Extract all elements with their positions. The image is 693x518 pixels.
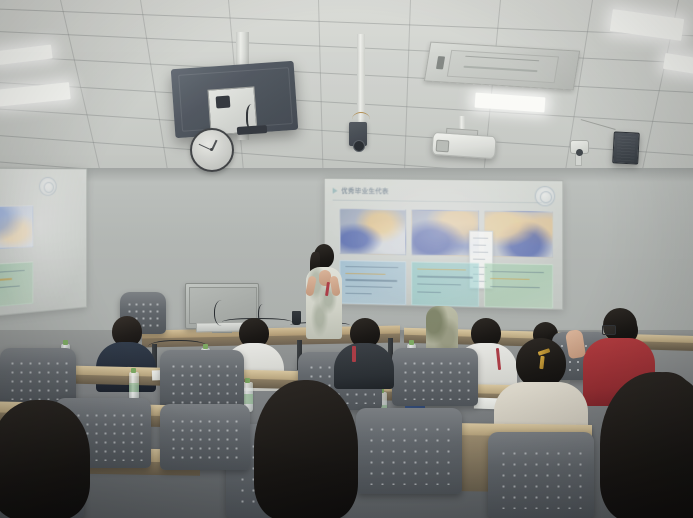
wall-camera-lens bbox=[576, 149, 583, 156]
secondary-projection-screen[interactable] bbox=[0, 168, 87, 317]
ceiling-camera-pole bbox=[357, 34, 365, 124]
tv-bracket-clamp bbox=[216, 96, 231, 109]
attendee-foreground-right bbox=[600, 372, 693, 518]
perforated-grey-chair[interactable] bbox=[160, 404, 250, 470]
perforated-grey-chair[interactable] bbox=[356, 408, 462, 494]
ceiling-camera-lens bbox=[353, 140, 365, 152]
slide-photo-3 bbox=[484, 211, 553, 259]
attendee-head bbox=[600, 372, 693, 518]
wall-clock bbox=[190, 128, 234, 172]
ceiling-tile-grid bbox=[0, 0, 693, 182]
attendee-foreground-center bbox=[254, 380, 364, 518]
wall-speaker bbox=[612, 131, 640, 164]
slide-logo-icon bbox=[535, 186, 555, 206]
slide-photo bbox=[0, 205, 33, 250]
slide-photo-1 bbox=[339, 209, 406, 256]
text-box-blue bbox=[339, 260, 406, 305]
glasses-icon bbox=[602, 325, 616, 335]
slide-logo-icon bbox=[39, 177, 57, 196]
tv-cable bbox=[246, 104, 260, 130]
text-box-green bbox=[0, 261, 33, 308]
slide-title-rule bbox=[333, 200, 542, 204]
perforated-grey-chair[interactable] bbox=[160, 350, 244, 410]
attendee-foreground-left bbox=[0, 400, 100, 518]
projector-lens bbox=[436, 140, 450, 153]
classroom-photo: 优秀毕业生代表 bbox=[0, 0, 693, 518]
attendee-dark-front-center bbox=[334, 318, 396, 388]
perforated-grey-chair[interactable] bbox=[488, 432, 594, 518]
attendee-head bbox=[0, 400, 90, 518]
perforated-grey-chair[interactable] bbox=[392, 348, 478, 406]
water-bottle[interactable] bbox=[129, 372, 139, 400]
slide-title-marker-icon bbox=[333, 188, 338, 194]
ceiling bbox=[0, 0, 693, 182]
attendee-lanyard bbox=[352, 346, 356, 362]
text-box-green bbox=[484, 263, 553, 309]
attendee-head bbox=[254, 380, 358, 518]
slide-title: 优秀毕业生代表 bbox=[341, 185, 388, 195]
main-projection-screen[interactable]: 优秀毕业生代表 bbox=[324, 178, 563, 310]
